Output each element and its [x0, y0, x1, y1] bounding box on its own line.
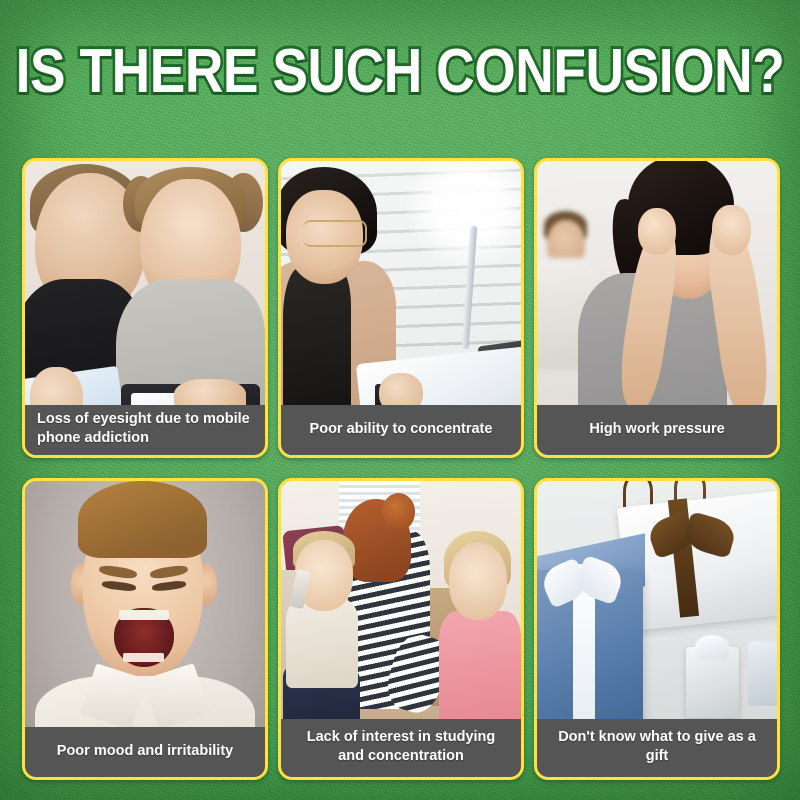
girl-head-shape — [449, 543, 507, 620]
card-caption: Loss of eyesight due to mobile phone add… — [25, 405, 265, 455]
card-caption: Poor ability to concentrate — [281, 405, 521, 455]
problem-card-grid: Loss of eyesight due to mobile phone add… — [22, 158, 780, 780]
card-caption: Poor mood and irritability — [25, 727, 265, 777]
card-lack-of-interest[interactable]: Lack of interest in studying and concent… — [278, 478, 524, 780]
toddler-sweater-shape — [286, 599, 358, 688]
card-caption: Lack of interest in studying and concent… — [281, 719, 521, 777]
promotional-poster: IS THERE SUCH CONFUSION? Loss of eyesigh… — [0, 0, 800, 800]
card-loss-of-eyesight[interactable]: Loss of eyesight due to mobile phone add… — [22, 158, 268, 458]
small-silver-box-two-shape — [748, 641, 777, 706]
eyeglasses-shape — [303, 220, 367, 248]
card-gift-confusion[interactable]: Don't know what to give as a gift — [534, 478, 780, 780]
woman-left-hand-shape — [638, 208, 676, 255]
card-high-work-pressure[interactable]: High work pressure — [534, 158, 780, 458]
boy-lower-teeth-shape — [123, 653, 164, 662]
card-poor-mood[interactable]: Poor mood and irritability — [22, 478, 268, 780]
card-caption: Don't know what to give as a gift — [537, 719, 777, 777]
boy-upper-teeth-shape — [119, 610, 169, 620]
poster-title-container: IS THERE SUCH CONFUSION? — [0, 34, 800, 110]
boy-hair-shape — [78, 481, 208, 558]
card-caption: High work pressure — [537, 405, 777, 455]
card-poor-concentration[interactable]: Poor ability to concentrate — [278, 158, 524, 458]
silver-box-bow-shape — [695, 635, 729, 659]
page-title: IS THERE SUCH CONFUSION? — [16, 41, 785, 103]
woman-right-hand-shape — [712, 205, 750, 255]
